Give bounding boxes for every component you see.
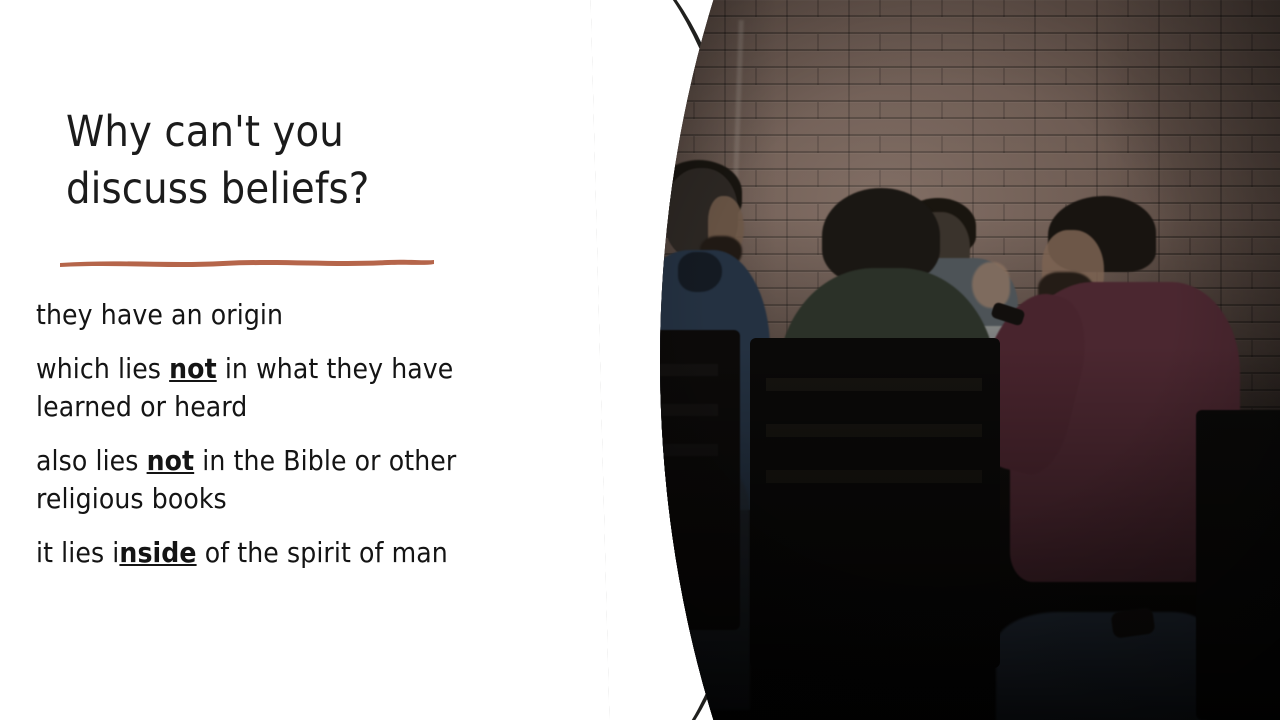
bullet-text-pre: it lies i — [36, 536, 119, 569]
bullet-text-pre: which lies — [36, 352, 169, 385]
person-right-hand — [972, 262, 1010, 308]
left-text-column: Why can't you discuss beliefs? they have… — [0, 0, 560, 720]
bullet-emphasis: not — [169, 352, 217, 385]
bullet-text-pre: also lies — [36, 444, 147, 477]
person-left-collar — [678, 252, 722, 292]
discussion-photo — [600, 0, 1280, 720]
person-right-jeans — [996, 612, 1206, 720]
list-item: it lies inside of the spirit of man — [36, 534, 536, 572]
slide-title: Why can't you discuss beliefs? — [66, 104, 496, 218]
bullet-emphasis: not — [147, 444, 195, 477]
chair-slat — [766, 378, 982, 391]
bullet-emphasis: nside — [119, 536, 196, 569]
list-item: which lies not in what they have learned… — [36, 350, 536, 426]
chair-right — [1196, 410, 1280, 720]
chair-slat — [766, 470, 982, 483]
chair-center — [750, 338, 1000, 668]
photo-canvas — [600, 0, 1280, 720]
photo-panel: YOU CAN NOT DISCUSS BELIEFS — [600, 0, 1280, 720]
list-item: they have an origin — [36, 296, 536, 334]
bullet-text-pre: they have an origin — [36, 298, 283, 331]
chair-slat — [766, 424, 982, 437]
list-item: also lies not in the Bible or other reli… — [36, 442, 536, 518]
slide-root: Why can't you discuss beliefs? they have… — [0, 0, 1280, 720]
bullet-text-post: of the spirit of man — [197, 536, 448, 569]
title-accent-underline — [58, 255, 436, 268]
bullet-list: they have an origin which lies not in wh… — [36, 296, 536, 572]
